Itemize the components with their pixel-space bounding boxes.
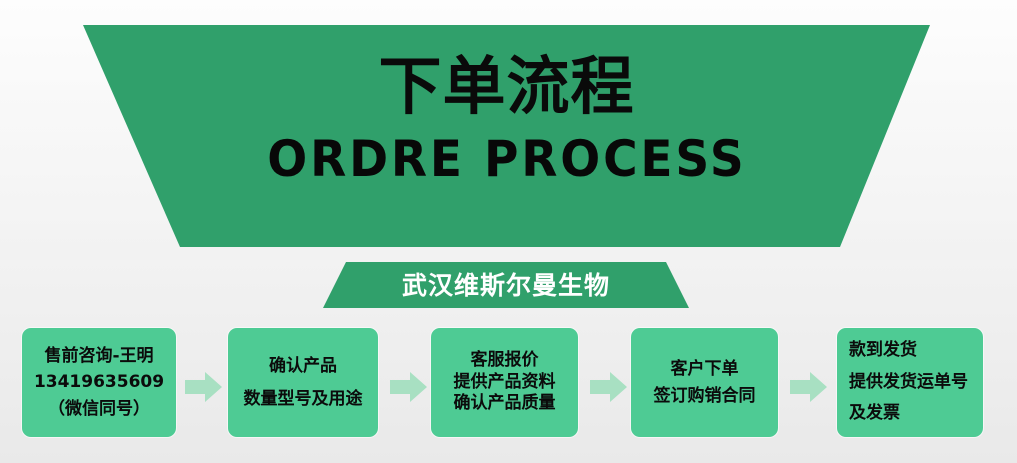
- process-step-3-text: 客服报价 提供产品资料 确认产品质量: [448, 350, 562, 415]
- process-step-4-line-2: 签订购销合同: [654, 383, 756, 409]
- process-step-3-line-2: 提供产品资料: [454, 372, 556, 394]
- title-banner-content: 下单流程 ORDRE PROCESS: [83, 25, 930, 247]
- process-step-3[interactable]: 客服报价 提供产品资料 确认产品质量: [431, 328, 578, 437]
- process-step-1-line-2: 13419635609: [34, 369, 164, 395]
- company-subbanner: 武汉维斯尔曼生物: [323, 262, 689, 308]
- arrow-right-icon: [185, 372, 222, 402]
- process-step-2-text: 确认产品 数量型号及用途: [238, 350, 369, 415]
- process-step-1[interactable]: 售前咨询-王明 13419635609 （微信同号）: [22, 328, 176, 437]
- process-step-4[interactable]: 客户下单 签订购销合同: [631, 328, 778, 437]
- page-title-chinese: 下单流程: [379, 55, 635, 119]
- process-flow: 售前咨询-王明 13419635609 （微信同号） 确认产品 数量型号及用途 …: [0, 328, 1017, 440]
- process-step-1-line-3: （微信同号）: [34, 396, 164, 422]
- arrow-right-icon: [790, 372, 827, 402]
- arrow-right-icon: [390, 372, 427, 402]
- process-step-5-line-1: 款到发货: [849, 335, 968, 366]
- process-step-3-line-1: 客服报价: [454, 350, 556, 372]
- process-step-3-line-3: 确认产品质量: [454, 393, 556, 415]
- process-step-5-line-2: 提供发货运单号: [849, 367, 968, 398]
- page-title-english: ORDRE PROCESS: [267, 133, 746, 186]
- order-process-infographic: 下单流程 ORDRE PROCESS 武汉维斯尔曼生物 售前咨询-王明 1341…: [0, 0, 1017, 463]
- process-step-1-line-1: 售前咨询-王明: [34, 343, 164, 369]
- process-step-1-text: 售前咨询-王明 13419635609 （微信同号）: [28, 343, 170, 422]
- company-name: 武汉维斯尔曼生物: [402, 273, 610, 298]
- process-step-2[interactable]: 确认产品 数量型号及用途: [228, 328, 378, 437]
- process-step-4-line-1: 客户下单: [654, 356, 756, 382]
- process-step-5-text: 款到发货 提供发货运单号 及发票: [837, 335, 974, 429]
- title-banner: 下单流程 ORDRE PROCESS: [83, 25, 930, 247]
- arrow-right-icon: [590, 372, 627, 402]
- process-step-5[interactable]: 款到发货 提供发货运单号 及发票: [837, 328, 983, 437]
- process-step-4-text: 客户下单 签订购销合同: [648, 356, 762, 409]
- process-step-2-line-1: 确认产品: [244, 350, 363, 382]
- process-step-2-line-2: 数量型号及用途: [244, 383, 363, 415]
- process-step-5-line-3: 及发票: [849, 398, 968, 429]
